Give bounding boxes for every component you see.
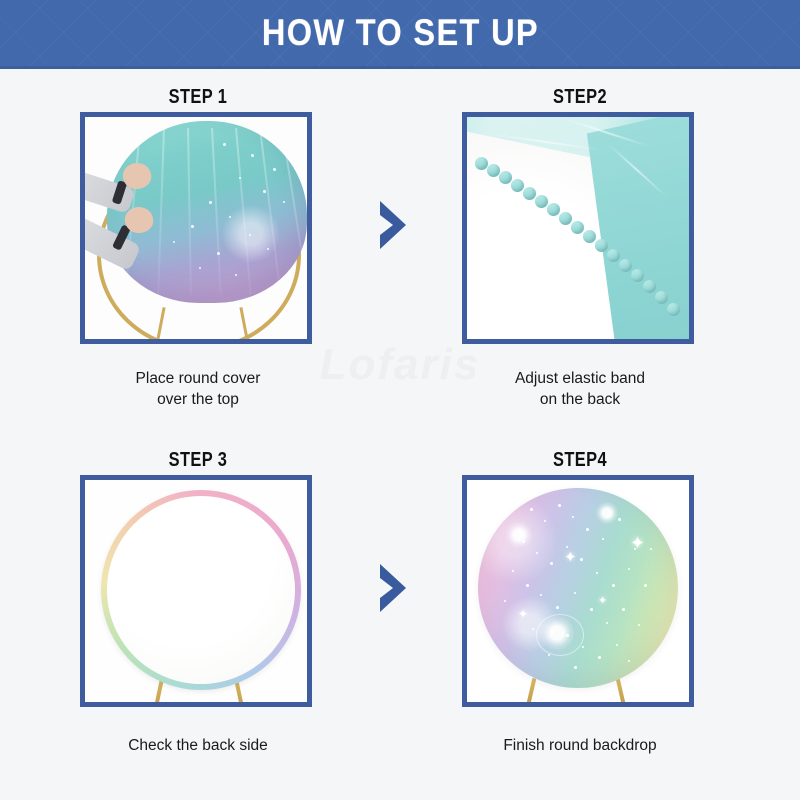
step-caption-1: Place round cover over the top — [68, 368, 328, 410]
step-caption-3: Check the back side — [68, 735, 328, 756]
step-caption-1-line1: Place round cover — [68, 368, 328, 389]
step-label-1: STEP 1 — [100, 86, 297, 109]
step-image-frame-1 — [80, 112, 312, 344]
step-caption-2: Adjust elastic band on the back — [450, 368, 710, 410]
step-photo-1 — [85, 117, 307, 339]
chevron-right-top-icon — [376, 199, 410, 251]
step-label-3: STEP 3 — [100, 449, 297, 472]
step-caption-1-line2: over the top — [68, 389, 328, 410]
rainbow-rim — [101, 490, 301, 690]
step-caption-2-line2: on the back — [450, 389, 710, 410]
step-caption-2-line1: Adjust elastic band — [450, 368, 710, 389]
page-header: HOW TO SET UP — [0, 0, 800, 69]
finished-backdrop-disc: ✦ ✦ ✦ ✦ — [478, 488, 678, 688]
step-image-frame-3 — [80, 475, 312, 707]
step-label-4: STEP4 — [482, 449, 679, 472]
step-photo-2 — [467, 117, 689, 339]
step-caption-3-line1: Check the back side — [68, 735, 328, 756]
step-photo-3 — [85, 480, 307, 702]
step-image-frame-4: ✦ ✦ ✦ ✦ — [462, 475, 694, 707]
step-photo-4: ✦ ✦ ✦ ✦ — [467, 480, 689, 702]
step-label-2: STEP2 — [482, 86, 679, 109]
step-caption-4: Finish round backdrop — [450, 735, 710, 756]
step-caption-4-line1: Finish round backdrop — [450, 735, 710, 756]
chevron-right-bottom-icon — [376, 562, 410, 614]
white-back-face — [107, 496, 295, 684]
step-image-frame-2 — [462, 112, 694, 344]
page-title: HOW TO SET UP — [261, 12, 538, 54]
